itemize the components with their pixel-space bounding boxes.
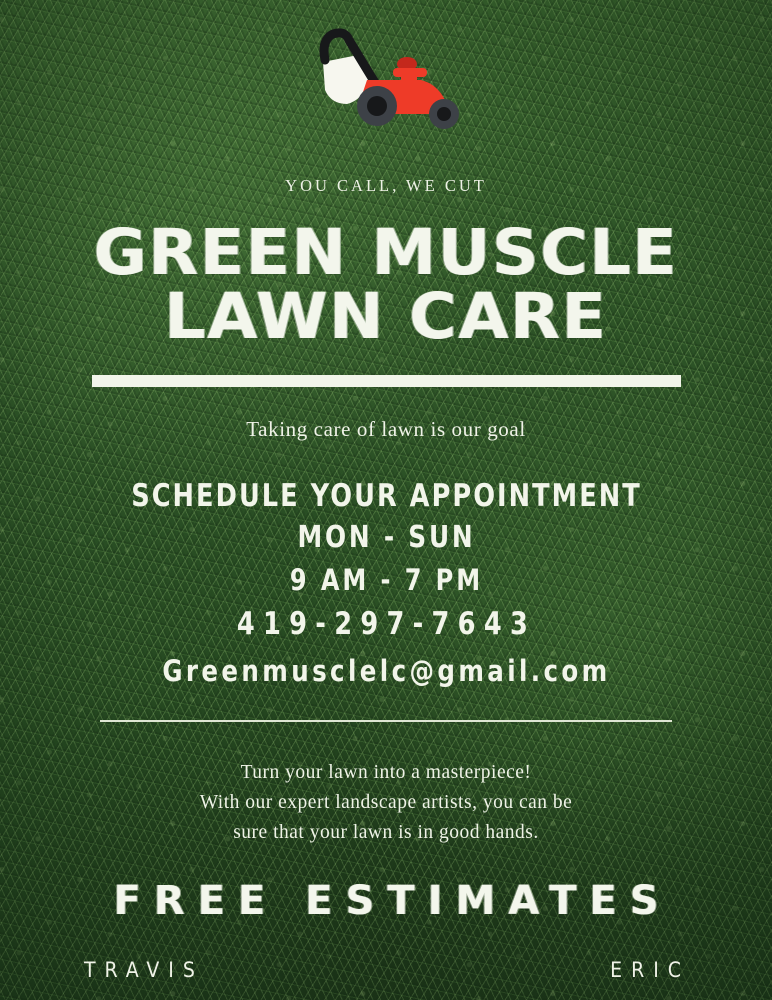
description-line-2: With our expert landscape artists, you c… <box>126 788 646 818</box>
flyer-content: YOU CALL, WE CUT GREEN MUSCLE LAWN CARE … <box>0 0 772 1000</box>
description-line-3: sure that your lawn is in good hands. <box>126 818 646 848</box>
divider-rule <box>100 720 672 722</box>
email-address[interactable]: Greenmusclelc@gmail.com <box>125 654 647 688</box>
free-estimates-banner: FREE ESTIMATES <box>100 878 671 924</box>
slogan: Taking care of lawn is our goal <box>246 417 526 442</box>
lawn-mower-icon <box>301 24 471 132</box>
title-line-2: LAWN CARE <box>94 286 679 347</box>
contact-name-left: TRAVIS <box>84 958 204 982</box>
phone-number[interactable]: 419-297-7643 <box>131 606 642 642</box>
contact-name-right: ERIC <box>610 958 690 982</box>
appointment-heading: SCHEDULE YOUR APPOINTMENT <box>131 478 642 514</box>
lawn-care-flyer: YOU CALL, WE CUT GREEN MUSCLE LAWN CARE … <box>0 0 772 1000</box>
title-line-1: GREEN MUSCLE <box>94 222 679 283</box>
page-title: GREEN MUSCLE LAWN CARE <box>94 222 679 347</box>
divider-bar <box>92 375 681 387</box>
tagline: YOU CALL, WE CUT <box>285 176 487 196</box>
description-line-1: Turn your lawn into a masterpiece! <box>126 758 646 788</box>
contact-names: TRAVIS ERIC <box>0 958 772 982</box>
appointment-block: SCHEDULE YOUR APPOINTMENT MON - SUN 9 AM… <box>109 478 664 688</box>
description-text: Turn your lawn into a masterpiece! With … <box>126 758 646 849</box>
appointment-hours: 9 AM - 7 PM <box>131 563 642 597</box>
appointment-days: MON - SUN <box>131 520 642 555</box>
